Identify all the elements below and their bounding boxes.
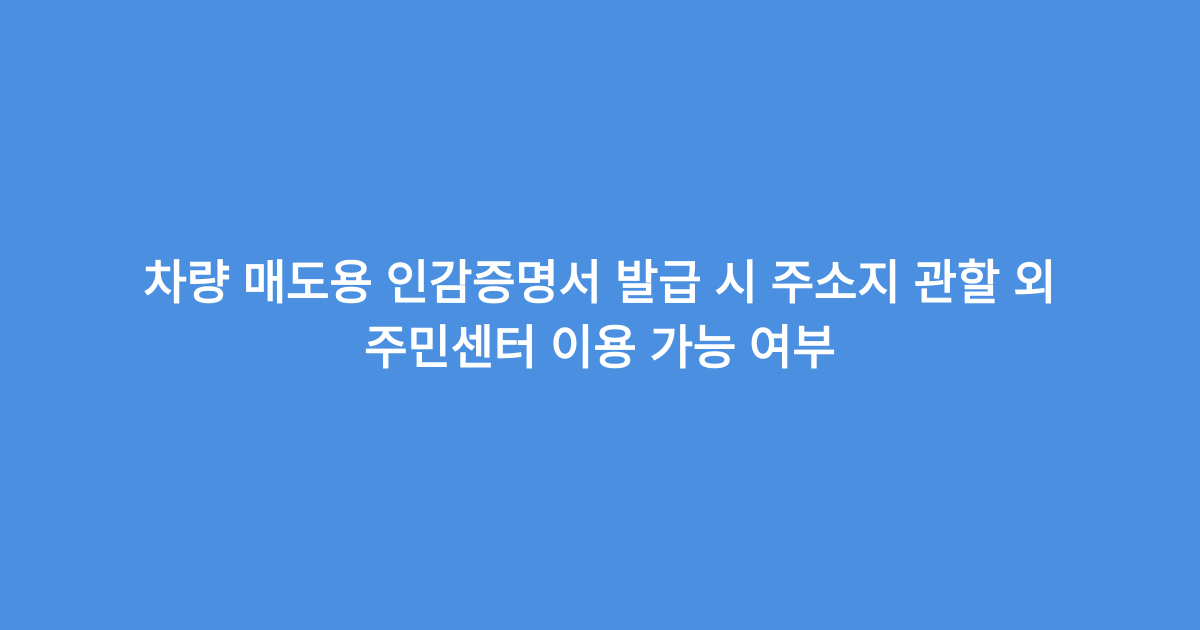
- og-card-canvas: 차량 매도용 인감증명서 발급 시 주소지 관할 외 주민센터 이용 가능 여부: [0, 0, 1200, 630]
- page-title-line-1: 차량 매도용 인감증명서 발급 시 주소지 관할 외: [90, 250, 1110, 315]
- page-title: 차량 매도용 인감증명서 발급 시 주소지 관할 외 주민센터 이용 가능 여부: [70, 250, 1130, 380]
- page-title-line-2: 주민센터 이용 가능 여부: [90, 315, 1110, 380]
